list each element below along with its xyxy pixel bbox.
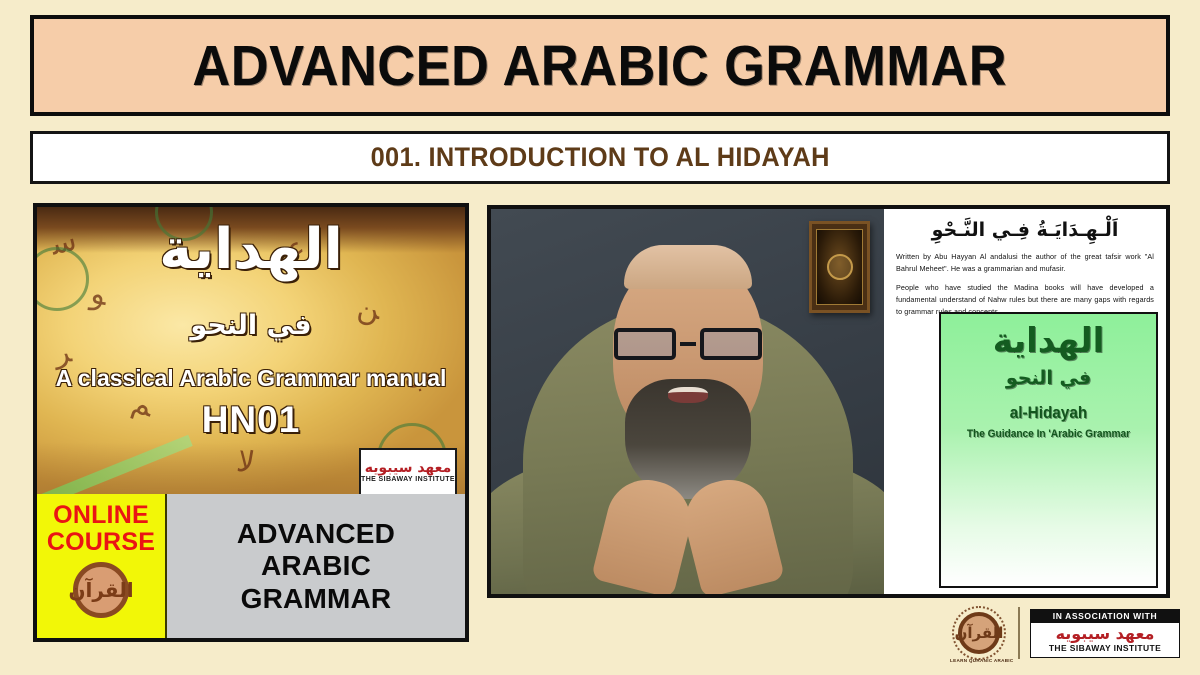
slide-paragraph-1: Written by Abu Hayyan Al andalusi the au…	[896, 251, 1154, 275]
glasses-lens-left	[614, 328, 676, 360]
glasses-bridge	[680, 342, 696, 346]
page-title: ADVANCED ARABIC GRAMMAR	[193, 33, 1008, 99]
learn-quranic-arabic-logo: القرآن LEARN QURANIC ARABIC	[950, 604, 1008, 662]
sibaway-badge-arabic: معهد سيبويه	[365, 461, 452, 475]
association-english: The Sibaway Institute	[1049, 643, 1161, 653]
association-logo: IN ASSOCIATION WITH معهد سيبويه The Siba…	[1030, 609, 1180, 658]
online-course-badge: ONLINE COURSE القرآن	[37, 494, 167, 638]
glasses-lens-right	[700, 328, 762, 360]
course-label-line-2: ARABIC	[261, 550, 371, 581]
course-label-line-3: GRAMMAR	[241, 583, 392, 614]
green-box-arabic-subtitle: في النحو	[941, 367, 1156, 389]
lesson-subtitle: 001. INTRODUCTION TO AL HIDAYAH	[370, 142, 829, 173]
presenter-hand-left	[590, 471, 698, 594]
green-box-translation: The Guidance In 'Arabic Grammar	[950, 428, 1148, 440]
cover-course-code: HN01	[37, 399, 465, 441]
presenter-hands	[603, 480, 773, 590]
sibaway-badge-english: The Sibaway Institute	[361, 476, 455, 483]
green-box-arabic-title: الهداية	[941, 322, 1156, 361]
course-label-line-1: ADVANCED	[237, 518, 395, 549]
logo-ring-icon	[952, 606, 1006, 660]
quran-seal-icon: القرآن	[73, 562, 129, 618]
lesson-slide: اَلْـهِـدَايَـةُ فِـي النَّـحْوِ Written…	[884, 209, 1166, 594]
slide-green-title-box: الهداية في النحو al-Hidayah The Guidance…	[939, 312, 1158, 588]
presenter-hand-right	[676, 471, 784, 594]
association-arabic: معهد سيبويه	[1056, 626, 1155, 642]
cover-english-line: A classical Arabic Grammar manual	[37, 365, 465, 392]
course-card-footer: ONLINE COURSE القرآن ADVANCED ARABIC GRA…	[37, 494, 465, 638]
footer-logos: القرآن LEARN QURANIC ARABIC IN ASSOCIATI…	[950, 600, 1185, 666]
course-title-banner: ADVANCED ARABIC GRAMMAR	[30, 15, 1170, 116]
association-header: IN ASSOCIATION WITH	[1030, 609, 1180, 623]
presenter-glasses-icon	[614, 327, 762, 361]
presenter-figure	[491, 209, 884, 594]
sibaway-institute-badge: معهد سيبويه The Sibaway Institute	[359, 448, 457, 496]
online-course-line-2: COURSE	[47, 529, 155, 556]
slide-arabic-heading: اَلْـهِـدَايَـةُ فِـي النَّـحْوِ	[896, 219, 1154, 241]
video-player-panel[interactable]: اَلْـهِـدَايَـةُ فِـي النَّـحْوِ Written…	[487, 205, 1170, 598]
book-cover-image: ﺳ ﻮ ﺮ ﻢ ﻋ ﻦ ﺐ ﻟﺎ الهداية في النحو A clas…	[37, 207, 465, 502]
association-body: معهد سيبويه The Sibaway Institute	[1030, 623, 1180, 658]
presenter-cap-icon	[624, 245, 752, 289]
presenter-mouth	[668, 387, 708, 403]
lesson-subtitle-banner: 001. INTRODUCTION TO AL HIDAYAH	[30, 131, 1170, 184]
green-box-transliteration: al-Hidayah	[952, 403, 1146, 423]
presenter-webcam-view	[491, 209, 884, 594]
logo-arc-text: LEARN QURANIC ARABIC	[950, 658, 1008, 663]
course-card-label: ADVANCED ARABIC GRAMMAR	[167, 494, 465, 638]
course-thumbnail-card[interactable]: ﺳ ﻮ ﺮ ﻢ ﻋ ﻦ ﺐ ﻟﺎ الهداية في النحو A clas…	[33, 203, 469, 642]
cover-arabic-subtitle: في النحو	[37, 310, 465, 341]
quran-seal-glyph: القرآن	[68, 578, 133, 602]
online-course-line-1: ONLINE	[53, 502, 149, 529]
cover-arabic-title: الهداية	[37, 217, 465, 282]
slide-canvas: ADVANCED ARABIC GRAMMAR 001. INTRODUCTIO…	[0, 0, 1200, 675]
footer-divider	[1018, 607, 1020, 659]
